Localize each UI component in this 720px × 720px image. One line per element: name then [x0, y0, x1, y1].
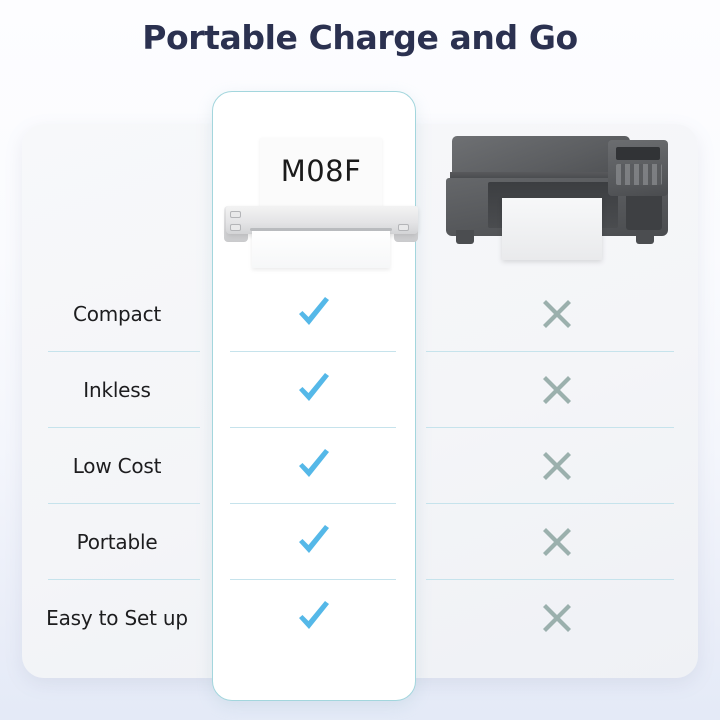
check-icon — [294, 370, 334, 410]
portable-result-cell — [212, 446, 416, 486]
cross-icon — [540, 297, 574, 331]
traditional-result-cell — [416, 601, 698, 635]
table-row: Low Cost — [22, 428, 698, 504]
cross-icon — [540, 601, 574, 635]
cross-icon — [540, 373, 574, 407]
traditional-result-cell — [416, 449, 698, 483]
table-row: Inkless — [22, 352, 698, 428]
feature-label: Easy to Set up — [22, 606, 212, 630]
portable-result-cell — [212, 522, 416, 562]
table-row: Compact — [22, 276, 698, 352]
table-row: Portable — [22, 504, 698, 580]
check-icon — [294, 522, 334, 562]
cross-icon — [540, 525, 574, 559]
feature-label: Compact — [22, 302, 212, 326]
feature-label: Inkless — [22, 378, 212, 402]
traditional-result-cell — [416, 297, 698, 331]
cross-icon — [540, 449, 574, 483]
table-row: Easy to Set up — [22, 580, 698, 656]
feature-label: Portable — [22, 530, 212, 554]
traditional-result-cell — [416, 373, 698, 407]
portable-result-cell — [212, 598, 416, 638]
page-title: Portable Charge and Go — [0, 18, 720, 57]
feature-label: Low Cost — [22, 454, 212, 478]
portable-result-cell — [212, 370, 416, 410]
comparison-rows: Compact Inkless — [22, 276, 698, 656]
check-icon — [294, 598, 334, 638]
portable-result-cell — [212, 294, 416, 334]
check-icon — [294, 294, 334, 334]
traditional-result-cell — [416, 525, 698, 559]
check-icon — [294, 446, 334, 486]
